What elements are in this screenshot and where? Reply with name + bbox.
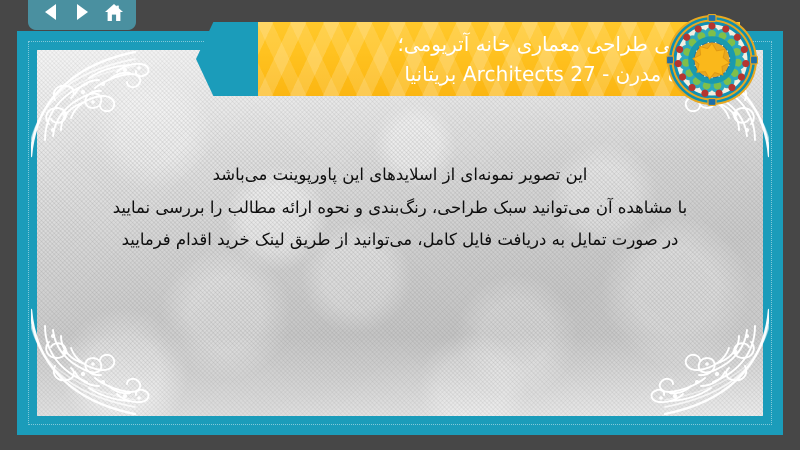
- persian-medallion-ornament-icon: [666, 14, 758, 106]
- slide-body-text: این تصویر نمونه‌ای از اسلایدهای این پاور…: [61, 159, 739, 257]
- presentation-viewer: این تصویر نمونه‌ای از اسلایدهای این پاور…: [0, 0, 800, 450]
- slide-title-banner: بررسی طراحی معماری خانه آتریومی؛ پروژه م…: [196, 22, 740, 96]
- body-line: این تصویر نمونه‌ای از اسلایدهای این پاور…: [61, 159, 739, 192]
- triangle-right-icon: [74, 3, 90, 21]
- body-line: با مشاهده آن می‌توانید سبک طراحی، رنگ‌بن…: [61, 192, 739, 225]
- home-button[interactable]: [101, 0, 127, 24]
- next-slide-button[interactable]: [69, 0, 95, 24]
- house-icon: [104, 3, 124, 22]
- title-chevron-accent: [196, 22, 258, 96]
- body-line: در صورت تمایل به دریافت فایل کامل، می‌تو…: [61, 224, 739, 257]
- triangle-left-icon: [42, 3, 58, 21]
- slide-navigation-bar: [28, 0, 136, 30]
- previous-slide-button[interactable]: [37, 0, 63, 24]
